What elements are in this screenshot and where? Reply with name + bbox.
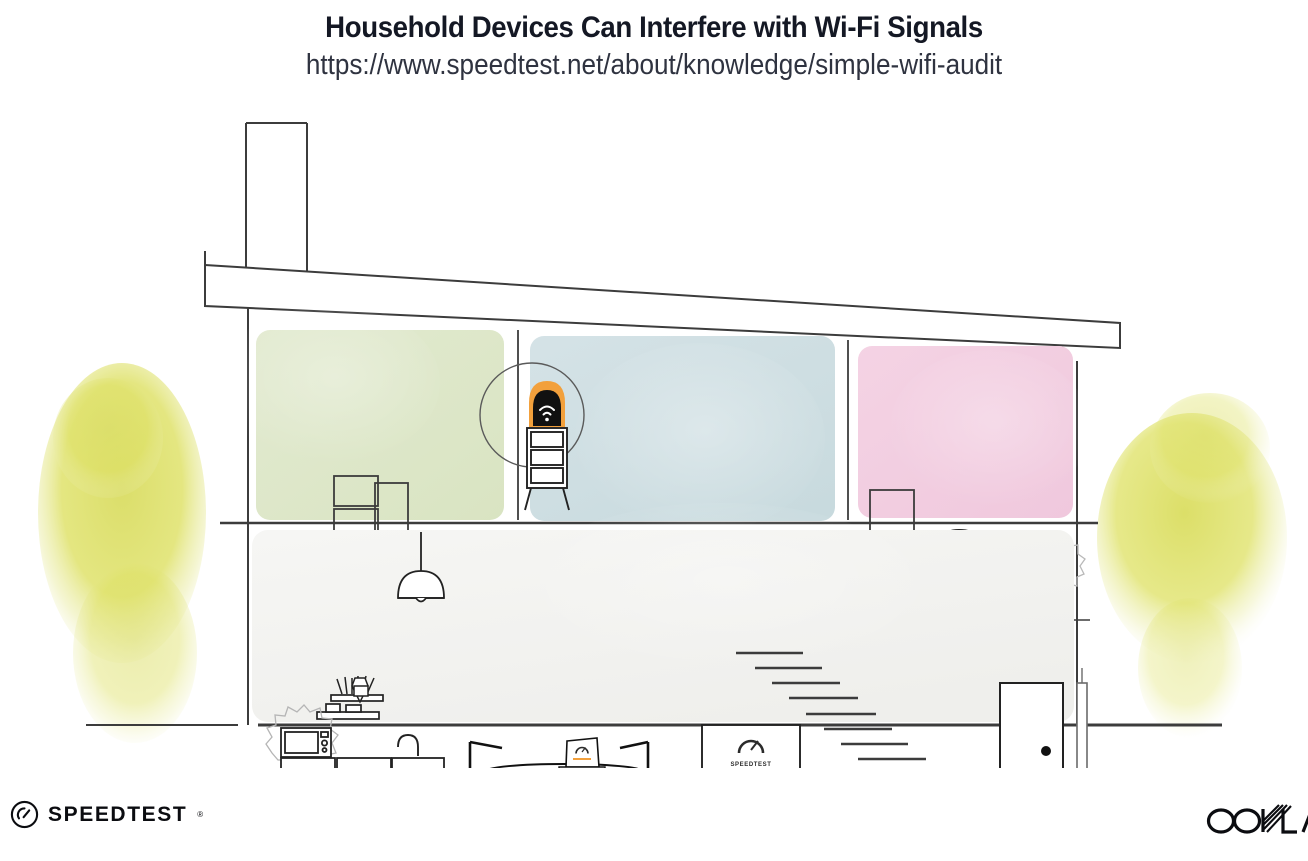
foliage-right (1097, 393, 1287, 738)
speedtest-logo: SPEEDTEST ® (10, 800, 203, 829)
speedtest-trademark-symbol: ® (197, 810, 203, 819)
laptop-speedtest-dining (559, 738, 605, 768)
source-url: https://www.speedtest.net/about/knowledg… (65, 48, 1242, 82)
room-ground-floor: SPEEDTEST (252, 503, 1074, 768)
door-knob (1041, 746, 1051, 756)
house-illustration: SPEEDTEST (0, 108, 1308, 768)
window-narrow (1077, 668, 1087, 768)
chair-right (620, 742, 648, 768)
router-icon[interactable] (529, 381, 565, 427)
ookla-wordmark-icon (1205, 800, 1308, 840)
speedtest-gauge-icon (10, 800, 39, 829)
chair-left (470, 742, 502, 768)
foliage-left (38, 363, 206, 743)
header: Household Devices Can Interfere with Wi-… (0, 0, 1308, 82)
page-title: Household Devices Can Interfere with Wi-… (52, 10, 1255, 46)
chimney (246, 123, 307, 280)
footer: SPEEDTEST ® (0, 786, 1308, 856)
ookla-logo (1205, 800, 1308, 845)
tv-screen-label: SPEEDTEST (730, 762, 771, 768)
tv-speedtest: SPEEDTEST (702, 725, 800, 768)
microwave (281, 728, 331, 757)
poster-canvas: Household Devices Can Interfere with Wi-… (0, 0, 1308, 861)
speedtest-wordmark: SPEEDTEST (48, 803, 187, 827)
front-door[interactable] (1000, 683, 1063, 768)
